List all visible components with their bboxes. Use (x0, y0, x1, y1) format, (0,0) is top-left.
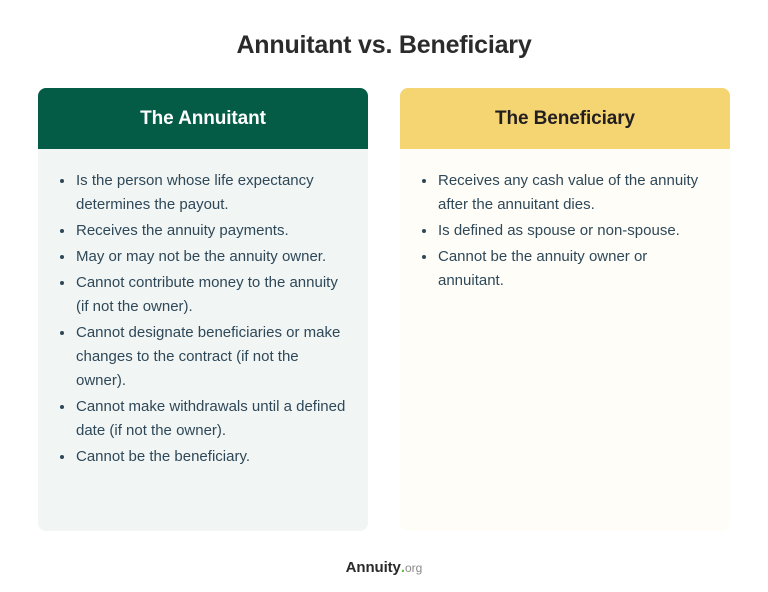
brand-logo: Annuity.org (0, 558, 768, 578)
column-header-annuitant: The Annuitant (38, 88, 368, 149)
infographic-page: Annuitant vs. Beneficiary The Annuitant … (0, 0, 768, 592)
list-item: Is the person whose life expectancy dete… (56, 169, 350, 217)
list-item: Cannot be the beneficiary. (56, 445, 350, 469)
list-item: Cannot make withdrawals until a defined … (56, 395, 350, 443)
list-item: Receives the annuity payments. (56, 219, 350, 243)
column-body-beneficiary: Receives any cash value of the annuity a… (400, 149, 730, 531)
list-item: Cannot contribute money to the annuity (… (56, 271, 350, 319)
list-item: Receives any cash value of the annuity a… (418, 169, 712, 217)
column-body-annuitant: Is the person whose life expectancy dete… (38, 149, 368, 531)
comparison-columns: The Annuitant Is the person whose life e… (38, 88, 730, 531)
list-item: Cannot be the annuity owner or annuitant… (418, 245, 712, 293)
bullet-list-annuitant: Is the person whose life expectancy dete… (56, 169, 350, 469)
column-beneficiary: The Beneficiary Receives any cash value … (400, 88, 730, 531)
logo-tld: org (405, 561, 422, 575)
logo-wordmark: Annuity (346, 559, 401, 576)
bullet-list-beneficiary: Receives any cash value of the annuity a… (418, 169, 712, 293)
list-item: Cannot designate beneficiaries or make c… (56, 321, 350, 393)
column-header-beneficiary: The Beneficiary (400, 88, 730, 149)
list-item: May or may not be the annuity owner. (56, 245, 350, 269)
column-annuitant: The Annuitant Is the person whose life e… (38, 88, 368, 531)
list-item: Is defined as spouse or non-spouse. (418, 219, 712, 243)
page-title: Annuitant vs. Beneficiary (0, 28, 768, 62)
